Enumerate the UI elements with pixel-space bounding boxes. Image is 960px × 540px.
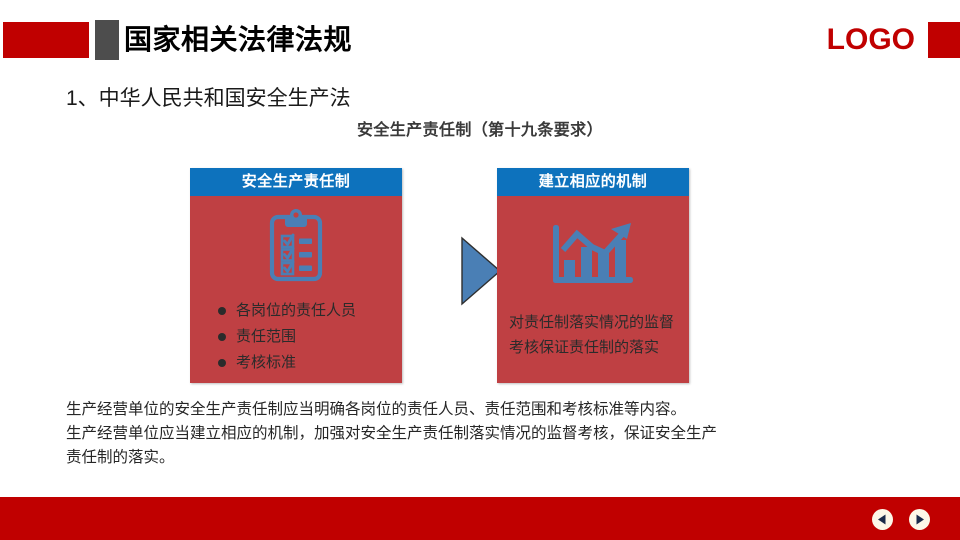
right-triangle-arrow-icon <box>460 236 502 306</box>
arrow-right-icon <box>913 513 926 526</box>
logo-text: LOGO <box>827 23 915 57</box>
list-item: 各岗位的责任人员 <box>218 298 402 324</box>
page-title: 国家相关法律法规 <box>124 20 352 60</box>
list-item: 考核标准 <box>218 350 402 376</box>
list-item-label: 各岗位的责任人员 <box>236 302 356 319</box>
header-red-accent-block <box>3 22 89 58</box>
clipboard-checklist-icon <box>190 208 402 286</box>
bullet-dot-icon <box>218 333 226 341</box>
diagram-heading: 安全生产责任制（第十九条要求） <box>0 116 960 140</box>
card-safety-responsibility: 安全生产责任制 各岗 <box>190 168 402 383</box>
list-item-label: 考核标准 <box>236 354 296 371</box>
paragraph-line-1: 生产经营单位的安全生产责任制应当明确各岗位的责任人员、责任范围和考核标准等内容。 <box>66 398 906 422</box>
body-paragraph: 生产经营单位的安全生产责任制应当明确各岗位的责任人员、责任范围和考核标准等内容。… <box>66 398 906 470</box>
list-item: 责任范围 <box>218 324 402 350</box>
header-gray-accent-block <box>95 20 119 60</box>
card-establish-mechanism: 建立相应的机制 对责任制落实情况的监督考核保证责任制的落实 <box>497 168 689 383</box>
bullet-dot-icon <box>218 307 226 315</box>
list-item-label: 责任范围 <box>236 328 296 345</box>
paragraph-line-2: 生产经营单位应当建立相应的机制，加强对安全生产责任制落实情况的监督考核，保证安全… <box>66 422 906 446</box>
footer-bar <box>0 497 960 540</box>
bar-chart-growth-icon <box>497 218 689 292</box>
nav-next-button[interactable] <box>909 509 930 530</box>
logo-red-block <box>928 22 960 58</box>
arrow-left-icon <box>876 513 889 526</box>
bullet-dot-icon <box>218 359 226 367</box>
section-subtitle: 1、中华人民共和国安全生产法 <box>66 82 351 112</box>
paragraph-line-3: 责任制的落实。 <box>66 446 906 470</box>
card-right-body-text: 对责任制落实情况的监督考核保证责任制的落实 <box>509 310 677 360</box>
card-right-header: 建立相应的机制 <box>497 168 689 196</box>
nav-previous-button[interactable] <box>872 509 893 530</box>
card-left-header: 安全生产责任制 <box>190 168 402 196</box>
responsibility-bullet-list: 各岗位的责任人员 责任范围 考核标准 <box>190 298 402 376</box>
